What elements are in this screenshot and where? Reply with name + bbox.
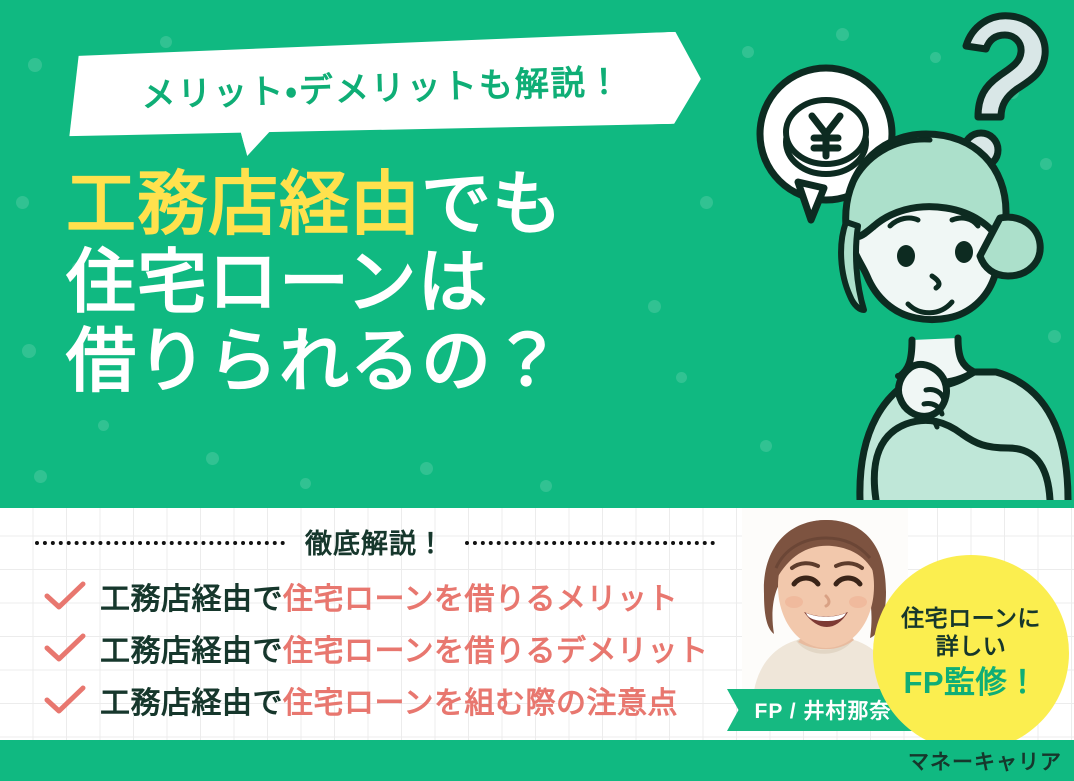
badge-line-1: 住宅ローンに: [901, 604, 1041, 632]
list-item-plain-3: 工務店経由で: [100, 687, 283, 720]
headline-line-2: 住宅ローンは: [66, 243, 726, 321]
headline-plain-1: でも: [421, 165, 563, 243]
list-item-plain-1: 工務店経由で: [100, 583, 283, 616]
headline-plain-3: 借りられるの？: [66, 322, 563, 400]
divider-label: 徹底解説！: [285, 522, 465, 561]
list-item-text: 工務店経由で住宅ローンを組む際の注意点: [100, 678, 678, 722]
headline-line-3: 借りられるの？: [66, 322, 726, 400]
headline-line-1: 工務店経由でも: [66, 165, 726, 243]
callout-ribbon: メリット・デメリットも解説！: [62, 31, 702, 141]
fp-supervision-badge: 住宅ローンに 詳しい FP監修！: [873, 555, 1069, 740]
infographic-banner: メリット・デメリットも解説！ 工務店経由でも 住宅ローンは 借りられるの？: [0, 0, 1074, 781]
thinking-woman-illustration: [700, 0, 1074, 500]
check-icon: [44, 580, 86, 612]
list-item-text: 工務店経由で住宅ローンを借りるデメリット: [100, 626, 709, 670]
list-item: 工務店経由で住宅ローンを組む際の注意点: [44, 674, 774, 726]
brand-logo: マネーキャリア: [908, 746, 1062, 776]
check-icon: [44, 684, 86, 716]
details-panel: 徹底解説！ 工務店経由で住宅ローンを借りるメリット 工務店経由で: [0, 508, 1074, 740]
headline-plain-2: 住宅ローンは: [66, 243, 489, 321]
divider-dash-left: [35, 541, 285, 545]
footer-bar: マネーキャリア: [0, 740, 1074, 781]
list-item-accent-3: 住宅ローンを組む際の注意点: [283, 687, 678, 720]
page-title: 工務店経由でも 住宅ローンは 借りられるの？: [66, 165, 726, 400]
fp-name-label: FP / 井村那奈: [755, 695, 892, 725]
checklist: 工務店経由で住宅ローンを借りるメリット 工務店経由で住宅ローンを借りるデメリット…: [44, 570, 774, 726]
callout-ribbon-label: メリット・デメリットも解説！: [141, 54, 624, 116]
list-item-text: 工務店経由で住宅ローンを借りるメリット: [100, 574, 678, 618]
list-item: 工務店経由で住宅ローンを借りるデメリット: [44, 622, 774, 674]
hero-section: メリット・デメリットも解説！ 工務店経由でも 住宅ローンは 借りられるの？: [0, 0, 1074, 508]
divider: 徹底解説！: [35, 524, 735, 558]
list-item-accent-2: 住宅ローンを借りるデメリット: [283, 635, 709, 668]
check-icon: [44, 632, 86, 664]
list-item-accent-1: 住宅ローンを借りるメリット: [283, 583, 678, 616]
headline-highlight-1: 工務店経由: [66, 165, 421, 243]
list-item-plain-2: 工務店経由で: [100, 635, 283, 668]
list-item: 工務店経由で住宅ローンを借りるメリット: [44, 570, 774, 622]
divider-dash-right: [465, 541, 715, 545]
badge-line-3: FP監修！: [903, 664, 1038, 702]
badge-line-2: 詳しい: [936, 632, 1007, 660]
